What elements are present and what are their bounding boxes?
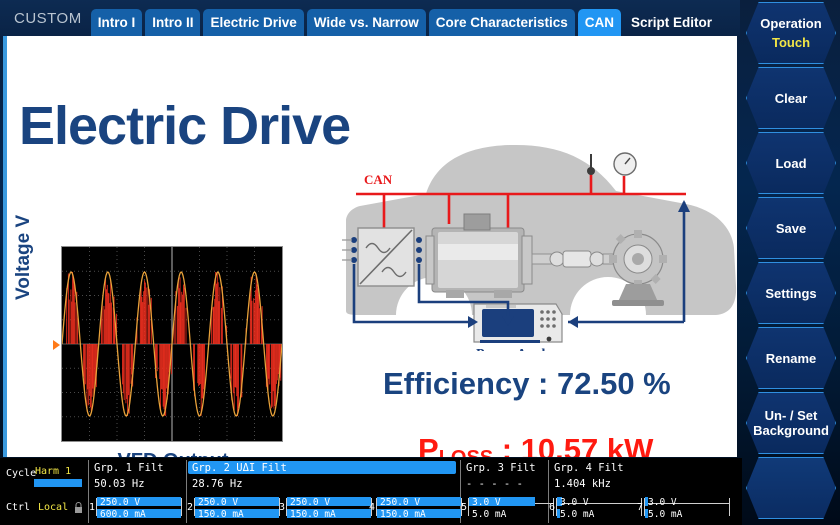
channel-current-value: 5.0 mA [560, 509, 594, 520]
status-divider [186, 460, 187, 523]
cycle-bar [34, 479, 82, 487]
ploss-subscript: LOSS [439, 447, 493, 457]
channel-voltage-value: 250.0 V [100, 497, 140, 508]
channel-number: 7 [637, 502, 643, 513]
channel-voltage-value: 250.0 V [290, 497, 330, 508]
channel-voltage-value: 3.0 V [472, 497, 501, 508]
sidebar-button-label: Operation [760, 16, 821, 31]
sidebar-button-label: Clear [775, 91, 808, 106]
sidebar-button-operation[interactable]: OperationTouch [746, 2, 836, 64]
group-frequency: 28.76 Hz [192, 478, 243, 490]
sidebar-button-load[interactable]: Load [746, 132, 836, 194]
group-header[interactable]: Grp. 3 Filt [466, 462, 536, 474]
sidebar-button-label: Save [776, 221, 806, 236]
lock-icon[interactable] [74, 502, 83, 513]
tab-script-editor[interactable]: Script Editor [624, 9, 719, 36]
group-frequency: - - - - - [466, 478, 523, 490]
cycle-value[interactable]: Harm 1 [35, 466, 71, 477]
custom-label: CUSTOM [0, 10, 91, 36]
channel-current-value: 600.0 mA [100, 509, 146, 520]
channel-number: 6 [549, 502, 555, 513]
sidebar-button-label: Un- / Set [765, 408, 818, 423]
oscilloscope-region: Voltage V [17, 240, 287, 457]
channel-voltage-value: 250.0 V [380, 497, 420, 508]
sidebar-button-settings[interactable]: Settings [746, 262, 836, 324]
group-header[interactable]: Grp. 4 Filt [554, 462, 624, 474]
gauge-icon [614, 153, 636, 175]
power-analyzer-icon [474, 304, 562, 343]
vehicle-diagram-svg: CAN [286, 136, 737, 351]
tab-bar: CUSTOM Intro IIntro IIElectric DriveWide… [0, 0, 740, 36]
tab-list: Intro IIntro IIElectric DriveWide vs. Na… [91, 9, 722, 36]
scope-waveform-svg [62, 247, 282, 441]
channel-voltage-value: 3.0 V [648, 497, 677, 508]
vehicle-diagram: CAN [286, 136, 737, 351]
channel-number: 4 [369, 502, 375, 513]
channel-current-value: 5.0 mA [648, 509, 682, 520]
group-frequency: 50.03 Hz [94, 478, 145, 490]
sidebar-button-un-set[interactable]: Un- / SetBackground [746, 392, 836, 454]
channel-current-value: 150.0 mA [380, 509, 426, 520]
scope-trigger-marker [53, 340, 60, 350]
tab-electric-drive[interactable]: Electric Drive [203, 9, 303, 36]
sidebar-button-sublabel: Touch [772, 35, 810, 50]
channel-current-value: 150.0 mA [198, 509, 244, 520]
sidebar-button-label: Load [775, 156, 806, 171]
group-frequency: 1.404 kHz [554, 478, 611, 490]
sidebar: OperationTouchClearLoadSaveSettingsRenam… [742, 0, 840, 525]
channel-number: 3 [279, 502, 285, 513]
channel-number: 5 [461, 502, 467, 513]
channel-voltage-value: 250.0 V [198, 497, 238, 508]
sidebar-button-clear[interactable]: Clear [746, 67, 836, 129]
efficiency-readout: Efficiency : 72.50 % [383, 366, 671, 402]
can-bus-label: CAN [364, 172, 393, 187]
power-analyzer-label: Power Analyzer [476, 347, 571, 351]
sidebar-button-sublabel: Background [753, 423, 829, 438]
power-loss-readout: PLOSS : 10.57 kW [418, 432, 653, 457]
ploss-prefix: P [418, 432, 439, 457]
scope-display[interactable] [61, 246, 283, 442]
sidebar-button-rename[interactable]: Rename [746, 327, 836, 389]
channel-current-value: 5.0 mA [472, 509, 506, 520]
status-divider [88, 460, 89, 523]
tab-core-characteristics[interactable]: Core Characteristics [429, 9, 575, 36]
channel-current-value: 150.0 mA [290, 509, 336, 520]
status-bar: Cycle Harm 1 Ctrl Local Grp. 1 Filt50.03… [0, 458, 742, 525]
ctrl-label: Ctrl [6, 502, 30, 513]
sidebar-button-label: Settings [765, 286, 816, 301]
tab-intro-ii[interactable]: Intro II [145, 9, 200, 36]
scope-y-axis-label: Voltage V [13, 180, 35, 300]
application-window: CUSTOM Intro IIntro IIElectric DriveWide… [0, 0, 840, 525]
group-header[interactable]: Grp. 1 Filt [94, 462, 164, 474]
channel-number: 2 [187, 502, 193, 513]
tab-intro-i[interactable]: Intro I [91, 9, 143, 36]
cycle-label: Cycle [6, 468, 36, 479]
sidebar-button-blank[interactable] [746, 457, 836, 519]
sidebar-button-label: Rename [766, 351, 817, 366]
channel-voltage-value: 3.0 V [560, 497, 589, 508]
content-panel: Electric Drive CAN [3, 36, 737, 457]
tab-wide-vs-narrow[interactable]: Wide vs. Narrow [307, 9, 426, 36]
ctrl-value[interactable]: Local [38, 502, 68, 513]
group-header[interactable]: Grp. 2 UΔI Filt [192, 462, 287, 474]
sidebar-button-save[interactable]: Save [746, 197, 836, 259]
channel-number: 1 [89, 502, 95, 513]
ploss-value: : 10.57 kW [493, 432, 653, 457]
scope-caption: VFD Output [63, 450, 283, 457]
tab-can[interactable]: CAN [578, 9, 621, 36]
